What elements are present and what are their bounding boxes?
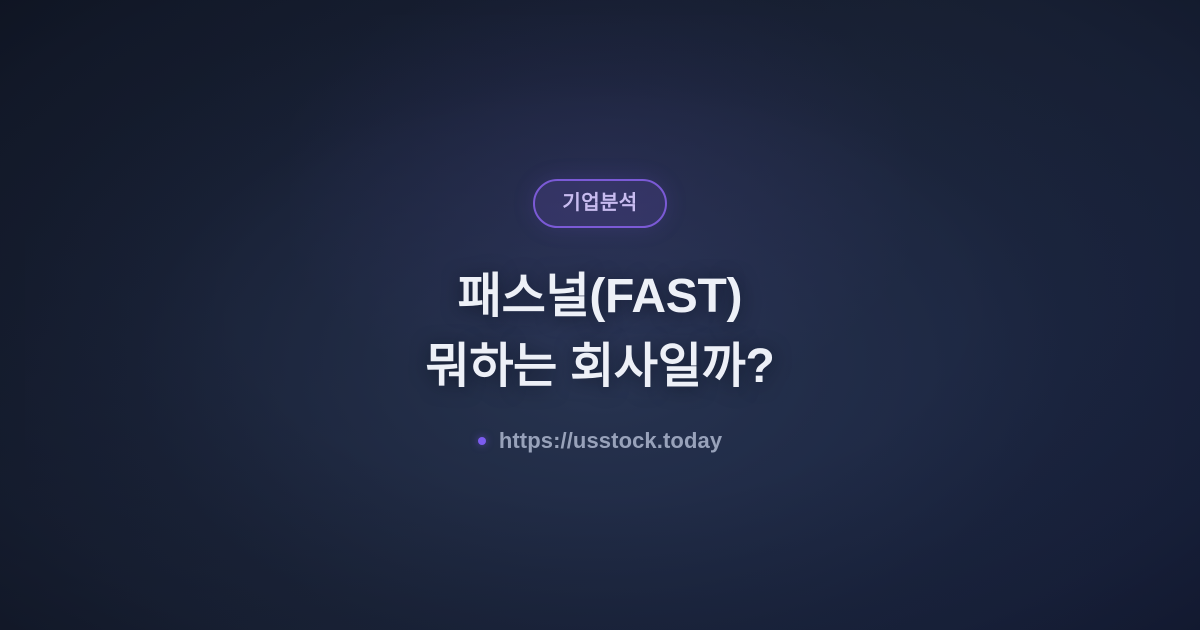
category-badge-label: 기업분석 [562,193,637,213]
bullet-dot-icon [478,437,486,445]
card-content: 기업분석 패스널(FAST) 뭐하는 회사일까? https://usstock… [0,0,1200,630]
share-card: 기업분석 패스널(FAST) 뭐하는 회사일까? https://usstock… [0,0,1200,630]
page-title-line-1: 패스널(FAST) [425,262,774,332]
page-title-line-2: 뭐하는 회사일까? [425,332,774,402]
page-title: 패스널(FAST) 뭐하는 회사일까? [425,262,774,402]
site-url: https://usstock.today [478,430,722,452]
site-url-text: https://usstock.today [499,430,722,452]
category-badge: 기업분석 [533,179,666,228]
